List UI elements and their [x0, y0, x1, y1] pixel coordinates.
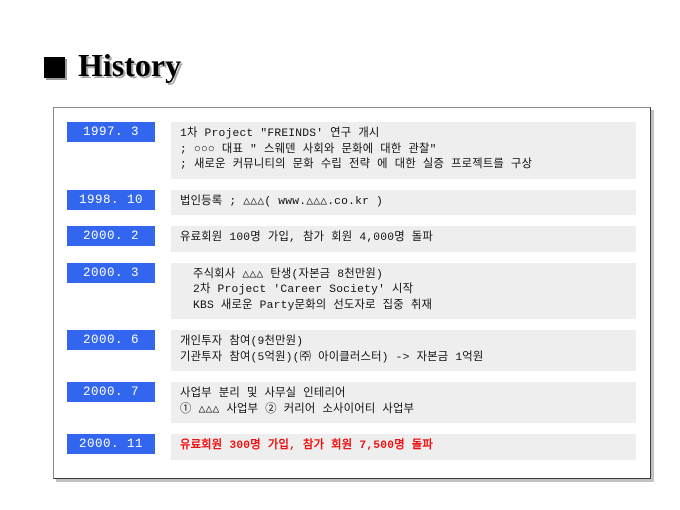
- history-row-line: 기관투자 참여(5억원)(㈜ 아이클러스터) -> 자본금 1억원: [180, 351, 628, 367]
- history-row-date: 2000. 11: [67, 434, 155, 454]
- history-row-date: 2000. 3: [67, 263, 155, 283]
- square-bullet-icon: [44, 57, 65, 78]
- history-row-line: 주식회사 △△△ 탄생(자본금 8천만원): [193, 268, 628, 284]
- history-row-date: 1997. 3: [67, 122, 155, 142]
- history-row-description: 유료회원 100명 가입, 참가 회원 4,000명 돌파: [171, 226, 636, 252]
- history-row: 2000. 7사업부 분리 및 사무실 인테리어① △△△ 사업부 ② 커리어 …: [54, 382, 650, 423]
- slide-canvas: History 1997. 31차 Project "FREINDS' 연구 개…: [0, 0, 680, 510]
- history-row: 2000. 6개인투자 참여(9천만원)기관투자 참여(5억원)(㈜ 아이클러스…: [54, 330, 650, 371]
- history-row-line: 1차 Project "FREINDS' 연구 개시: [180, 127, 628, 143]
- history-row-description: 사업부 분리 및 사무실 인테리어① △△△ 사업부 ② 커리어 소사이어티 사…: [171, 382, 636, 423]
- history-row-line: 2차 Project 'Career Society' 시작: [193, 283, 628, 299]
- history-row-description: 개인투자 참여(9천만원)기관투자 참여(5억원)(㈜ 아이클러스터) -> 자…: [171, 330, 636, 371]
- slide-title-row: History: [44, 48, 181, 82]
- history-row-line: 유료회원 100명 가입, 참가 회원 4,000명 돌파: [180, 231, 628, 247]
- history-row-description: 법인등록 ; △△△( www.△△△.co.kr ): [171, 190, 636, 216]
- history-row-line: ; ○○○ 대표 " 스웨덴 사회와 문화에 대한 관찰": [180, 143, 628, 159]
- history-row-date: 2000. 7: [67, 382, 155, 402]
- history-row-line: 개인투자 참여(9천만원): [180, 335, 628, 351]
- history-row-description: 유료회원 300명 가입, 참가 회원 7,500명 돌파: [171, 434, 636, 460]
- history-row: 2000. 3주식회사 △△△ 탄생(자본금 8천만원)2차 Project '…: [54, 263, 650, 320]
- page-title: History: [78, 48, 181, 82]
- history-row-date: 1998. 10: [67, 190, 155, 210]
- history-row-line: 유료회원 300명 가입, 참가 회원 7,500명 돌파: [180, 439, 628, 455]
- history-row-line: ① △△△ 사업부 ② 커리어 소사이어티 사업부: [180, 403, 628, 419]
- history-row-line: KBS 새로운 Party문화의 선도자로 집중 취재: [193, 299, 628, 315]
- history-table-frame: 1997. 31차 Project "FREINDS' 연구 개시; ○○○ 대…: [53, 107, 651, 479]
- history-row: 1997. 31차 Project "FREINDS' 연구 개시; ○○○ 대…: [54, 122, 650, 179]
- history-row-description: 1차 Project "FREINDS' 연구 개시; ○○○ 대표 " 스웨덴…: [171, 122, 636, 179]
- history-row-line: ; 새로운 커뮤니티의 문화 수립 전략 에 대한 실증 프로젝트를 구상: [180, 158, 628, 174]
- history-row: 2000. 2유료회원 100명 가입, 참가 회원 4,000명 돌파: [54, 226, 650, 252]
- history-row-date: 2000. 6: [67, 330, 155, 350]
- history-row-date: 2000. 2: [67, 226, 155, 246]
- history-row: 2000. 11유료회원 300명 가입, 참가 회원 7,500명 돌파: [54, 434, 650, 460]
- history-row: 1998. 10법인등록 ; △△△( www.△△△.co.kr ): [54, 190, 650, 216]
- history-row-line: 사업부 분리 및 사무실 인테리어: [180, 387, 628, 403]
- history-row-description: 주식회사 △△△ 탄생(자본금 8천만원)2차 Project 'Career …: [171, 263, 636, 320]
- history-row-line: 법인등록 ; △△△( www.△△△.co.kr ): [180, 195, 628, 211]
